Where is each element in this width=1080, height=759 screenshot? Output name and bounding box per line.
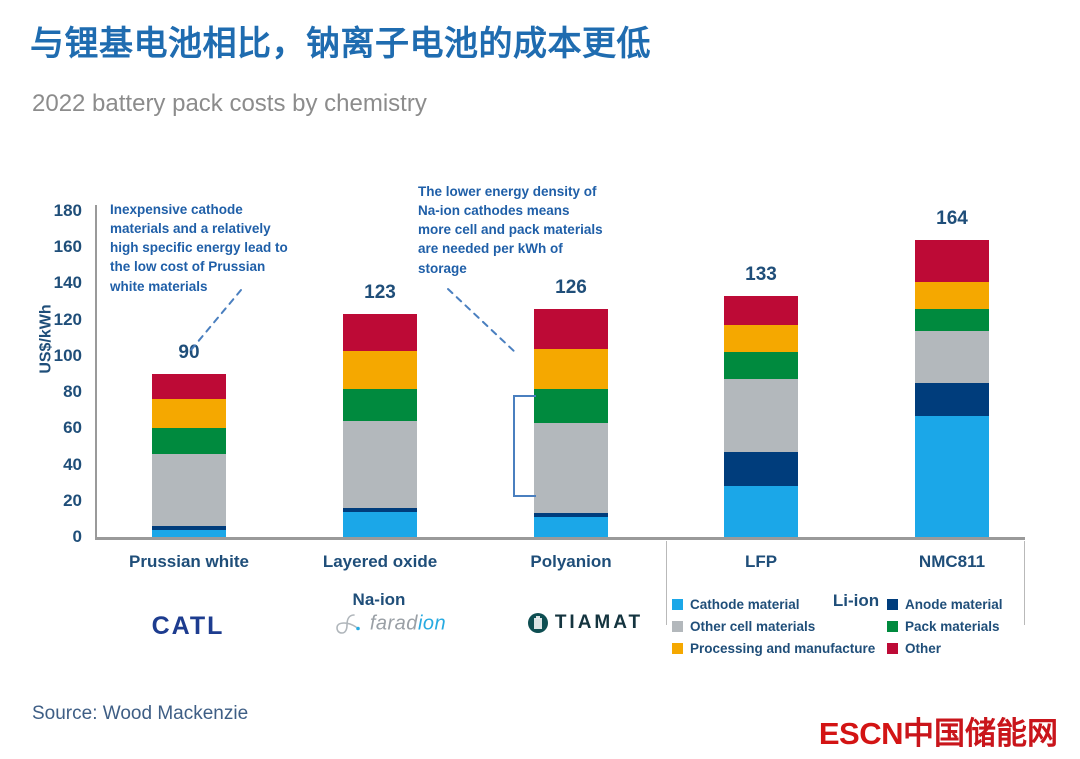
bar-segment-cathode-material[interactable]	[152, 530, 226, 537]
annotation-bracket-icon	[508, 394, 538, 498]
bar-segment-pack-materials[interactable]	[915, 309, 989, 331]
legend-label: Other cell materials	[690, 619, 815, 634]
brand-logo-tiamat: TIAMAT	[490, 612, 680, 634]
bar-lfp[interactable]	[724, 296, 798, 537]
legend-item-anode-material[interactable]: Anode material	[887, 597, 1052, 612]
tiamat-mark-icon	[527, 612, 549, 634]
escn-watermark: ESCN中国储能网	[819, 708, 1058, 753]
x-axis-label-prussian-white: Prussian white	[99, 552, 279, 572]
faradion-wordmark-suffix: ion	[418, 612, 446, 634]
bar-prussian-white[interactable]	[152, 374, 226, 537]
legend-item-processing-and-manufacture[interactable]: Processing and manufacture	[672, 641, 887, 656]
legend-item-cathode-material[interactable]: Cathode material	[672, 597, 887, 612]
bar-value-label: 123	[343, 282, 417, 304]
bar-segment-other-cell-materials[interactable]	[724, 379, 798, 451]
escn-latin: ESCN	[819, 716, 903, 751]
bar-segment-processing-and-manufacture[interactable]	[724, 325, 798, 352]
bar-polyanion[interactable]	[534, 309, 608, 537]
legend-swatch-icon	[887, 621, 898, 632]
annotation-na-ion: The lower energy density of Na-ion catho…	[418, 182, 603, 278]
bar-segment-cathode-material[interactable]	[534, 517, 608, 537]
bar-value-label: 164	[915, 208, 989, 230]
legend-item-other[interactable]: Other	[887, 641, 1052, 656]
bar-segment-pack-materials[interactable]	[343, 389, 417, 422]
legend-item-pack-materials[interactable]: Pack materials	[887, 619, 1052, 634]
bar-segment-pack-materials[interactable]	[534, 389, 608, 423]
bar-segment-other-cell-materials[interactable]	[534, 423, 608, 514]
x-axis-line	[95, 537, 1025, 540]
bar-segment-processing-and-manufacture[interactable]	[343, 351, 417, 389]
faradion-wordmark-prefix: farad	[370, 612, 418, 634]
legend-swatch-icon	[887, 599, 898, 610]
bar-segment-cathode-material[interactable]	[724, 486, 798, 537]
bar-segment-processing-and-manufacture[interactable]	[534, 349, 608, 389]
legend-swatch-icon	[672, 599, 683, 610]
source-note: Source: Wood Mackenzie	[32, 703, 248, 725]
bar-segment-processing-and-manufacture[interactable]	[152, 399, 226, 428]
annotation-prussian-white: Inexpensive cathode materials and a rela…	[110, 200, 300, 296]
legend: Cathode materialAnode materialOther cell…	[672, 597, 1052, 656]
tiamat-wordmark: TIAMAT	[555, 612, 643, 633]
bar-segment-cathode-material[interactable]	[343, 512, 417, 537]
bar-segment-other[interactable]	[152, 374, 226, 399]
bar-segment-other[interactable]	[534, 309, 608, 349]
legend-label: Processing and manufacture	[690, 641, 875, 656]
bar-nmc811[interactable]	[915, 240, 989, 537]
x-axis-label-nmc811: NMC811	[862, 552, 1042, 572]
bar-segment-other[interactable]	[915, 240, 989, 282]
legend-label: Cathode material	[690, 597, 800, 612]
legend-label: Other	[905, 641, 941, 656]
annotation-na-ion-leader-icon	[440, 285, 530, 360]
brand-logo-catl: CATL	[118, 612, 258, 641]
bar-value-label: 126	[534, 277, 608, 299]
x-axis-label-lfp: LFP	[671, 552, 851, 572]
bar-segment-processing-and-manufacture[interactable]	[915, 282, 989, 309]
bar-segment-anode-material[interactable]	[724, 452, 798, 486]
bar-segment-other-cell-materials[interactable]	[915, 331, 989, 384]
bar-segment-pack-materials[interactable]	[724, 352, 798, 379]
bar-segment-other-cell-materials[interactable]	[343, 421, 417, 508]
brand-logo-faradion: faradion	[300, 612, 480, 636]
legend-swatch-icon	[887, 643, 898, 654]
x-axis-label-polyanion: Polyanion	[481, 552, 661, 572]
annotation-prussian-leader-icon	[185, 288, 255, 368]
bar-layered-oxide[interactable]	[343, 314, 417, 537]
bar-segment-other-cell-materials[interactable]	[152, 454, 226, 526]
bar-segment-pack-materials[interactable]	[152, 428, 226, 453]
bar-segment-anode-material[interactable]	[915, 383, 989, 416]
bar-segment-other[interactable]	[343, 314, 417, 350]
legend-item-other-cell-materials[interactable]: Other cell materials	[672, 619, 887, 634]
bar-value-label: 133	[724, 264, 798, 286]
bar-segment-other[interactable]	[724, 296, 798, 325]
x-axis-label-layered-oxide: Layered oxide	[290, 552, 470, 572]
group-label-na-ion: Na-ion	[289, 590, 469, 610]
legend-swatch-icon	[672, 643, 683, 654]
legend-label: Anode material	[905, 597, 1003, 612]
escn-chinese: 中国储能网	[903, 716, 1058, 751]
legend-label: Pack materials	[905, 619, 1000, 634]
bar-segment-cathode-material[interactable]	[915, 416, 989, 537]
faradion-mark-icon	[334, 612, 364, 636]
